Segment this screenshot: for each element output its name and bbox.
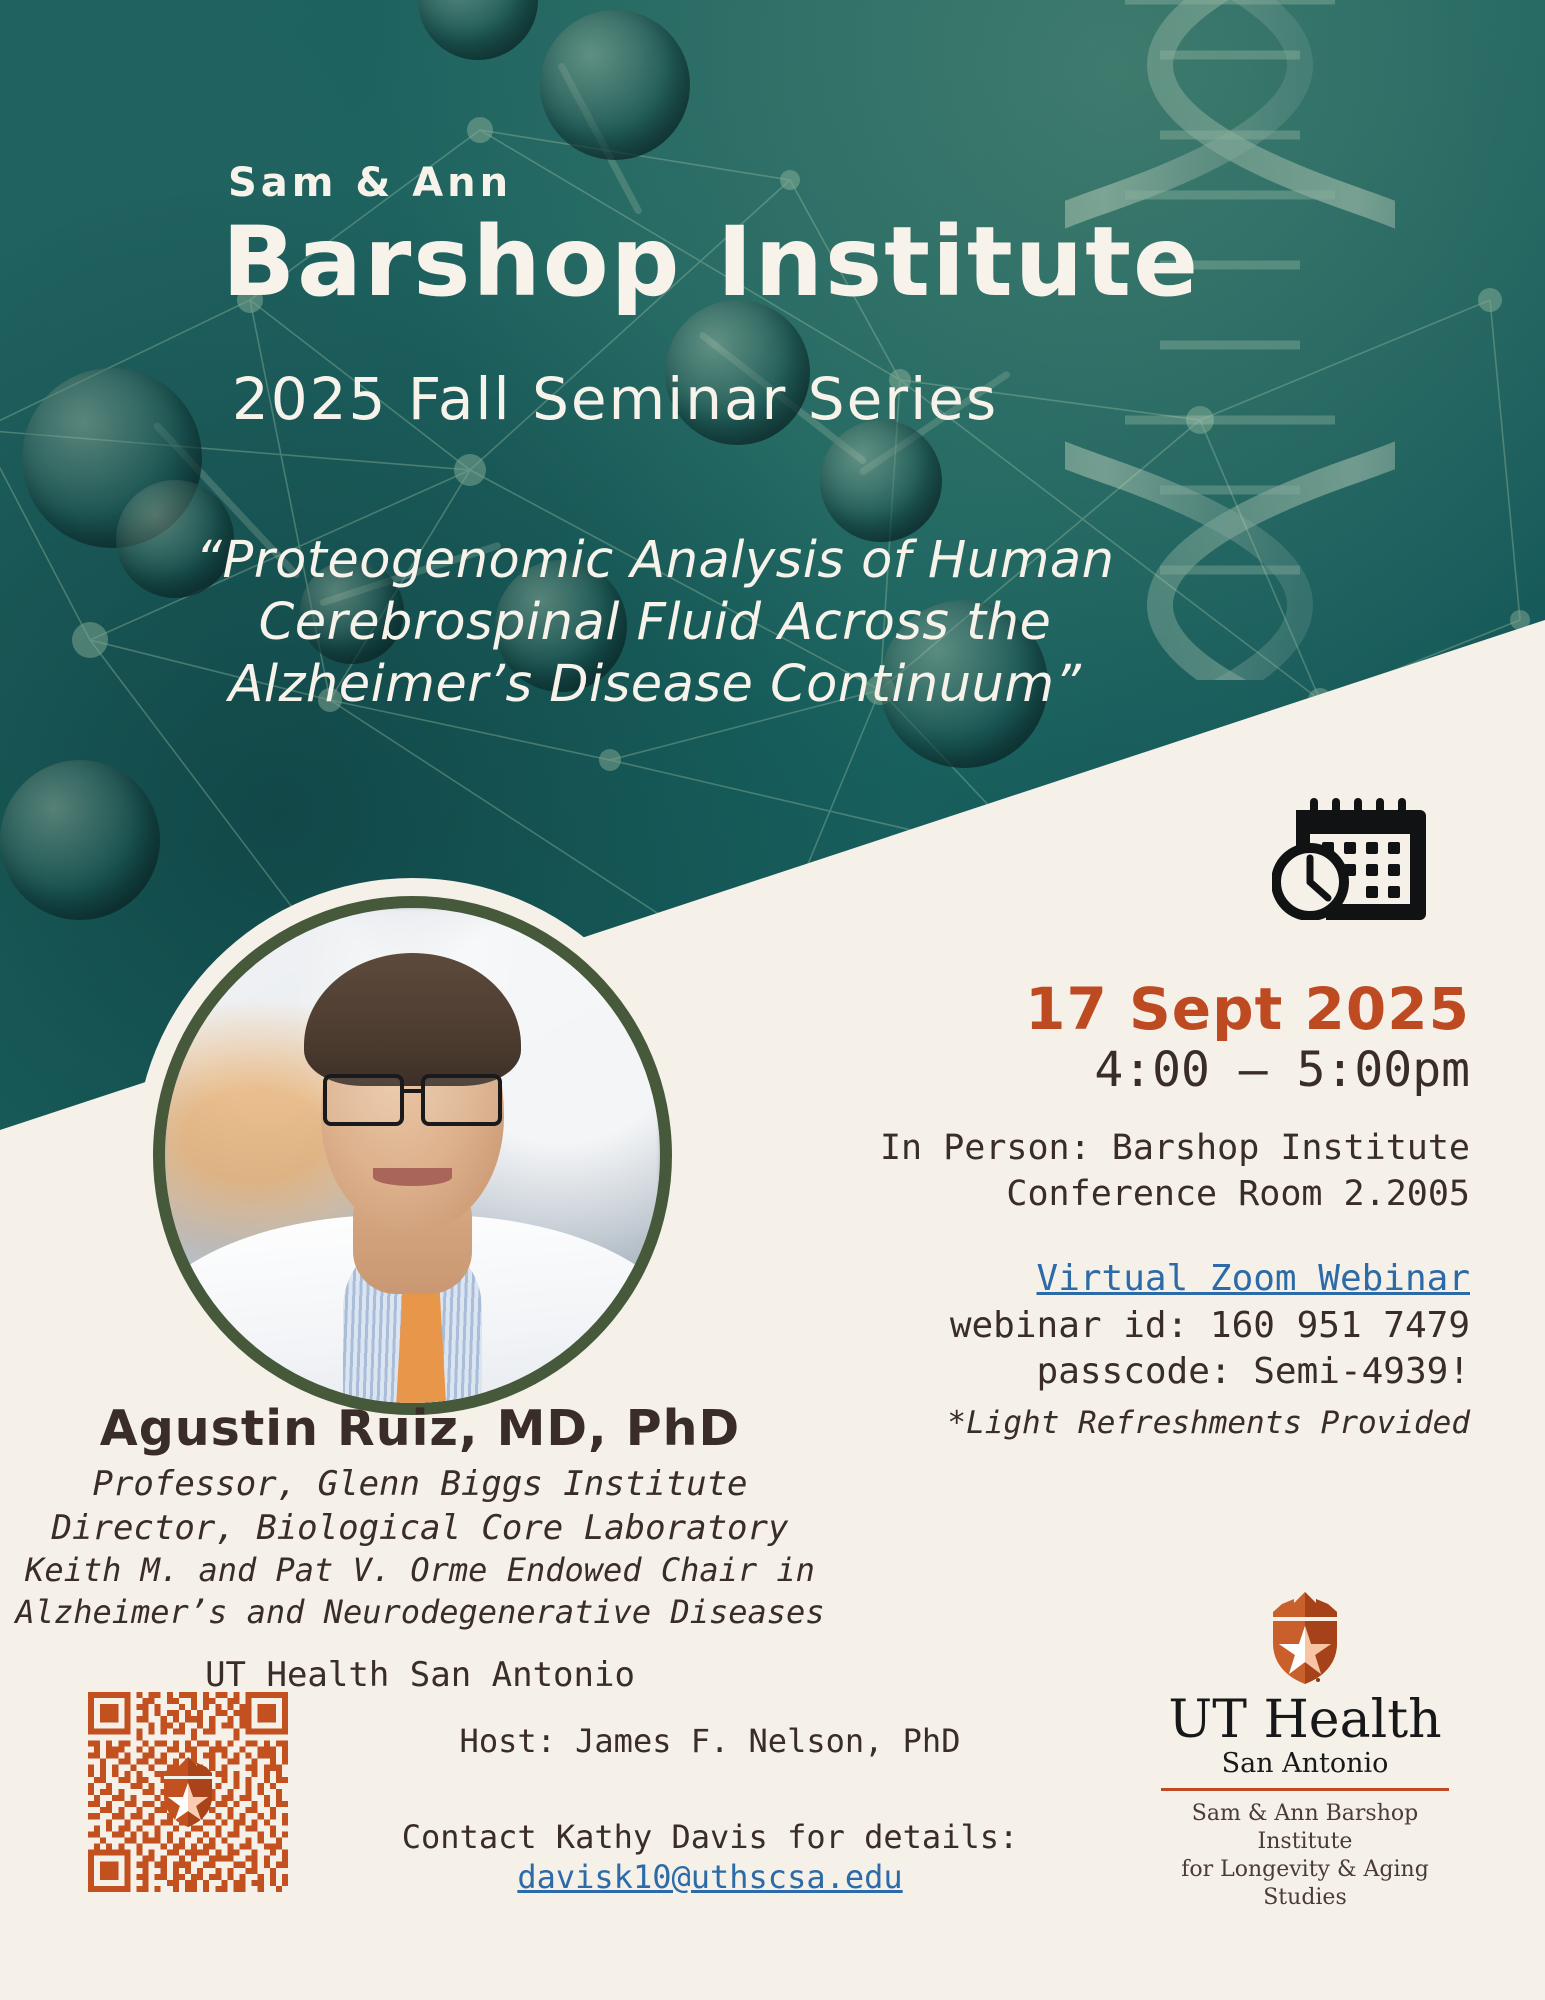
- speaker-title-3: Keith M. and Pat V. Orme Endowed Chair i…: [0, 1550, 840, 1592]
- speaker-title-1: Professor, Glenn Biggs Institute: [0, 1462, 840, 1506]
- speaker-name: Agustin Ruiz, MD, PhD: [0, 1400, 840, 1457]
- talk-title-line-3: Alzheimer’s Disease Continuum”: [150, 654, 1160, 716]
- speaker-organization: UT Health San Antonio: [0, 1655, 840, 1695]
- logo-subtitle-line-2: for Longevity & Aging Studies: [1155, 1856, 1455, 1912]
- logo-subtitle: Sam & Ann Barshop Institute for Longevit…: [1155, 1800, 1455, 1913]
- event-time: 4:00 – 5:00pm: [860, 1042, 1470, 1098]
- talk-title-line-2: Cerebrospinal Fluid Across the: [150, 592, 1160, 654]
- calendar-clock-icon: [1272, 790, 1432, 920]
- institute-title: Barshop Institute: [222, 212, 1200, 314]
- host-line: Host: James F. Nelson, PhD: [330, 1722, 1090, 1760]
- speaker-title-4: Alzheimer’s and Neurodegenerative Diseas…: [0, 1592, 840, 1634]
- qr-code[interactable]: [88, 1692, 288, 1892]
- event-location: In Person: Barshop Institute Conference …: [760, 1125, 1470, 1217]
- event-date: 17 Sept 2025: [860, 975, 1470, 1043]
- location-line-2: Conference Room 2.2005: [760, 1171, 1470, 1217]
- series-subtitle: 2025 Fall Seminar Series: [0, 365, 1230, 433]
- molecule-sphere: [820, 420, 942, 542]
- contact-email[interactable]: davisk10@uthscsa.edu: [330, 1858, 1090, 1896]
- pre-title: Sam & Ann: [228, 160, 512, 206]
- webinar-passcode: passcode: Semi-4939!: [760, 1349, 1470, 1395]
- zoom-webinar-link[interactable]: Virtual Zoom Webinar: [760, 1258, 1470, 1299]
- speaker-titles: Professor, Glenn Biggs Institute Directo…: [0, 1462, 840, 1634]
- logo-city: San Antonio: [1155, 1750, 1455, 1777]
- talk-title: “Proteogenomic Analysis of Human Cerebro…: [150, 530, 1160, 717]
- seminar-poster: Sam & Ann Barshop Institute 2025 Fall Se…: [0, 0, 1545, 2000]
- ut-shield-icon: [1264, 1590, 1346, 1686]
- contact-line: Contact Kathy Davis for details:: [330, 1818, 1090, 1856]
- ut-shield-icon: [157, 1756, 219, 1828]
- location-line-1: In Person: Barshop Institute: [760, 1125, 1470, 1171]
- eyeglasses: [323, 1074, 501, 1126]
- ut-health-logo: UT Health San Antonio Sam & Ann Barshop …: [1155, 1590, 1455, 1910]
- zoom-credentials: webinar id: 160 951 7479 passcode: Semi-…: [760, 1303, 1470, 1395]
- molecule-sphere: [540, 10, 690, 160]
- logo-subtitle-line-1: Sam & Ann Barshop Institute: [1155, 1800, 1455, 1856]
- logo-name: UT Health: [1155, 1694, 1455, 1746]
- photo-image: [165, 908, 660, 1403]
- speaker-photo: [135, 878, 690, 1433]
- speaker-title-2: Director, Biological Core Laboratory: [0, 1506, 840, 1550]
- webinar-id: webinar id: 160 951 7479: [760, 1303, 1470, 1349]
- talk-title-line-1: “Proteogenomic Analysis of Human: [150, 530, 1160, 592]
- refreshments-note: *Light Refreshments Provided: [760, 1405, 1470, 1441]
- logo-divider: [1161, 1788, 1449, 1791]
